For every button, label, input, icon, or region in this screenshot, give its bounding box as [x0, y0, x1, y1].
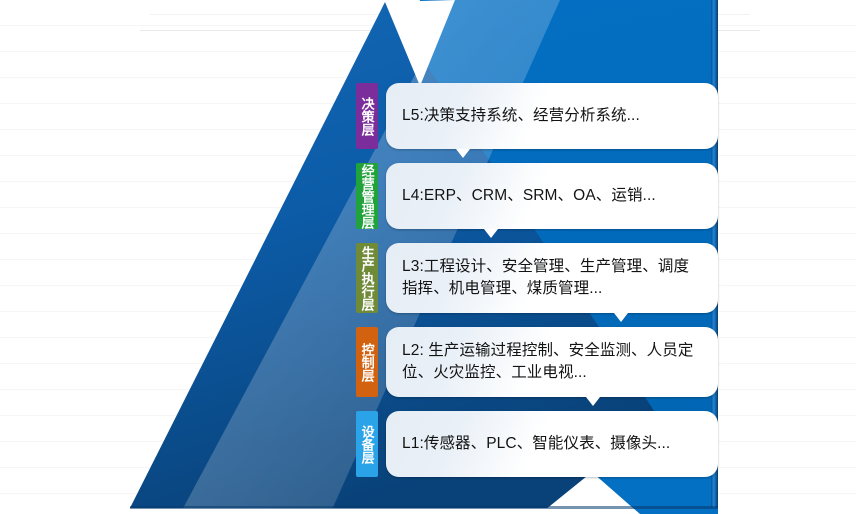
- level-card-line: L2: 生产运输过程控制、安全监测、人员定: [402, 342, 693, 359]
- level-tab-l3[interactable]: 生产执行层: [356, 243, 378, 313]
- pyramid-level-l4[interactable]: 经营管理层 L4:ERP、CRM、SRM、OA、运销...: [356, 163, 718, 229]
- level-tab-l2[interactable]: 控制层: [356, 327, 378, 397]
- diagram-canvas: 决策层 L5:决策支持系统、经营分析系统... 经营管理层 L4:ERP、CRM…: [0, 0, 856, 514]
- level-tab-l5[interactable]: 决策层: [356, 83, 378, 149]
- level-card-text-l1: L1:传感器、PLC、智能仪表、摄像头...: [402, 433, 670, 455]
- level-card-l2[interactable]: L2: 生产运输过程控制、安全监测、人员定 位、火灾监控、工业电视...: [386, 327, 718, 397]
- level-card-line: 位、火灾监控、工业电视...: [402, 364, 587, 381]
- level-card-l4[interactable]: L4:ERP、CRM、SRM、OA、运销...: [386, 163, 718, 229]
- level-card-l5[interactable]: L5:决策支持系统、经营分析系统...: [386, 83, 718, 149]
- pyramid-level-l5[interactable]: 决策层 L5:决策支持系统、经营分析系统...: [356, 83, 718, 149]
- level-card-l1[interactable]: L1:传感器、PLC、智能仪表、摄像头...: [386, 411, 718, 477]
- pyramid-level-l3[interactable]: 生产执行层 L3:工程设计、安全管理、生产管理、调度 指挥、机电管理、煤质管理.…: [356, 243, 718, 313]
- level-arrow-l4: [484, 229, 498, 238]
- level-card-text-l5: L5:决策支持系统、经营分析系统...: [402, 105, 640, 127]
- level-rows: 决策层 L5:决策支持系统、经营分析系统... 经营管理层 L4:ERP、CRM…: [0, 0, 856, 514]
- pyramid-level-l2[interactable]: 控制层 L2: 生产运输过程控制、安全监测、人员定 位、火灾监控、工业电视...: [356, 327, 718, 397]
- level-card-text-l4: L4:ERP、CRM、SRM、OA、运销...: [402, 185, 656, 207]
- level-card-text-l3: L3:工程设计、安全管理、生产管理、调度 指挥、机电管理、煤质管理...: [402, 256, 689, 301]
- level-card-text-l2: L2: 生产运输过程控制、安全监测、人员定 位、火灾监控、工业电视...: [402, 340, 693, 385]
- level-arrow-l3: [614, 313, 628, 322]
- level-card-line: L3:工程设计、安全管理、生产管理、调度: [402, 258, 689, 275]
- level-arrow-l5: [456, 149, 470, 158]
- level-tab-l4[interactable]: 经营管理层: [356, 163, 378, 229]
- level-card-l3[interactable]: L3:工程设计、安全管理、生产管理、调度 指挥、机电管理、煤质管理...: [386, 243, 718, 313]
- pyramid-level-l1[interactable]: 设备层 L1:传感器、PLC、智能仪表、摄像头...: [356, 411, 718, 477]
- level-card-line: 指挥、机电管理、煤质管理...: [402, 280, 602, 297]
- level-arrow-l2: [586, 397, 600, 406]
- level-tab-l1[interactable]: 设备层: [356, 411, 378, 477]
